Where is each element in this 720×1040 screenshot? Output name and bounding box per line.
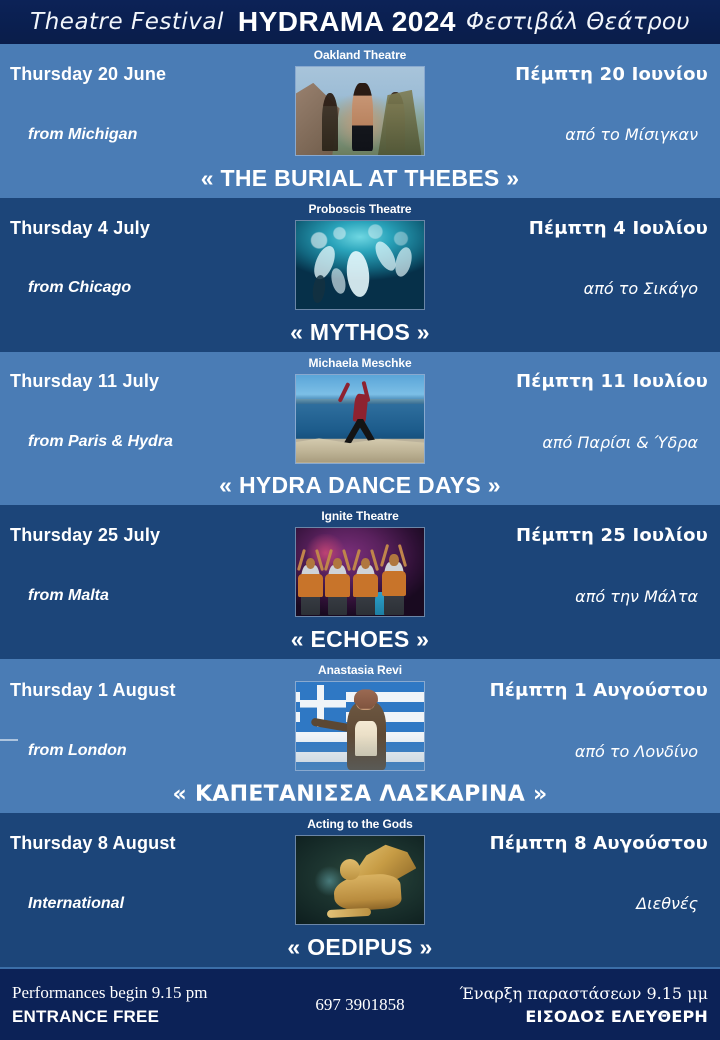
event-thumbnail-wrap xyxy=(285,198,435,319)
event-row[interactable]: Thursday 25 July Πέμπτη 25 Ιουλίου Ignit… xyxy=(0,505,720,659)
poster-header: Theatre Festival HYDRAMA 2024 Φεστιβάλ Θ… xyxy=(0,0,720,44)
footer-greek-block: Έναρξη παραστάσεων 9.15 μμ ΕΙΣΟΔΟΣ ΕΛΕΥΘ… xyxy=(415,984,708,1026)
header-greek-title: Φεστιβάλ Θεάτρου xyxy=(466,9,690,35)
footer-start-time-english: Performances begin 9.15 pm xyxy=(12,983,305,1003)
event-company-name: Oakland Theatre xyxy=(285,44,435,62)
event-title: « THE BURIAL AT THEBES » xyxy=(0,165,720,198)
poster-footer: Performances begin 9.15 pm ENTRANCE FREE… xyxy=(0,967,720,1040)
event-company-name: Michaela Meschke xyxy=(285,352,435,370)
event-row[interactable]: Thursday 1 August Πέμπτη 1 Αυγούστου Ana… xyxy=(0,659,720,813)
event-thumbnail-wrap xyxy=(285,352,435,473)
oedipus-sphinx-photo xyxy=(295,835,425,925)
event-origin-greek: από το Σικάγο xyxy=(435,258,720,318)
event-origin-greek: από Παρίσι & Ύδρα xyxy=(435,412,720,472)
event-company-name: Proboscis Theatre xyxy=(285,198,435,216)
echoes-stage-photo xyxy=(295,527,425,617)
event-date-english: Thursday 25 July xyxy=(0,505,285,565)
event-origin-english: from Paris & Hydra xyxy=(0,412,285,472)
event-row[interactable]: Thursday 20 June Πέμπτη 20 Ιουνίου Oakla… xyxy=(0,44,720,198)
event-row[interactable]: Thursday 8 August Πέμπτη 8 Αυγούστου Act… xyxy=(0,813,720,967)
event-row[interactable]: Thursday 11 July Πέμπτη 11 Ιουλίου Micha… xyxy=(0,352,720,506)
event-origin-english: International xyxy=(0,874,285,934)
event-title: « MYTHOS » xyxy=(0,319,720,352)
event-title: « ECHOES » xyxy=(0,626,720,659)
event-date-english: Thursday 20 June xyxy=(0,44,285,104)
festival-poster: Theatre Festival HYDRAMA 2024 Φεστιβάλ Θ… xyxy=(0,0,720,1040)
event-origin-greek: από το Λονδίνο xyxy=(435,721,720,782)
event-date-greek: Πέμπτη 1 Αυγούστου xyxy=(435,659,720,720)
event-date-english: Thursday 4 July xyxy=(0,198,285,258)
event-company-name: Ignite Theatre xyxy=(285,505,435,523)
hydra-dance-days-photo xyxy=(295,374,425,464)
footer-english-block: Performances begin 9.15 pm ENTRANCE FREE xyxy=(12,983,305,1027)
event-list: Thursday 20 June Πέμπτη 20 Ιουνίου Oakla… xyxy=(0,44,720,967)
event-title: « HYDRA DANCE DAYS » xyxy=(0,472,720,505)
event-date-english: Thursday 1 August xyxy=(0,659,285,720)
event-date-greek: Πέμπτη 8 Αυγούστου xyxy=(435,813,720,873)
header-english-title: Theatre Festival xyxy=(30,9,238,35)
event-date-greek: Πέμπτη 4 Ιουλίου xyxy=(435,198,720,258)
event-row[interactable]: Thursday 4 July Πέμπτη 4 Ιουλίου Probosc… xyxy=(0,198,720,352)
kapetanissa-laskarina-photo xyxy=(295,681,425,771)
footer-entrance-english: ENTRANCE FREE xyxy=(12,1007,305,1027)
event-origin-english: from Chicago xyxy=(0,258,285,318)
footer-start-time-greek: Έναρξη παραστάσεων 9.15 μμ xyxy=(415,984,708,1003)
event-thumbnail-wrap xyxy=(285,659,435,782)
event-title: « ΚΑΠΕΤΑΝΙΣΣΑ ΛΑΣΚΑΡΙΝΑ » xyxy=(0,782,720,813)
event-thumbnail-wrap xyxy=(285,813,435,934)
event-date-english: Thursday 8 August xyxy=(0,813,285,873)
mythos-underwater-photo xyxy=(295,220,425,310)
event-date-greek: Πέμπτη 20 Ιουνίου xyxy=(435,44,720,104)
event-thumbnail-wrap xyxy=(285,505,435,626)
event-origin-english: from London xyxy=(0,721,285,782)
event-origin-english: from Malta xyxy=(0,566,285,626)
footer-phone-number[interactable]: 697 3901858 xyxy=(305,995,414,1015)
event-date-english: Thursday 11 July xyxy=(0,352,285,412)
event-company-name: Anastasia Revi xyxy=(285,659,435,677)
event-origin-greek: από την Μάλτα xyxy=(435,566,720,626)
event-company-name: Acting to the Gods xyxy=(285,813,435,831)
event-origin-english: from Michigan xyxy=(0,104,285,164)
event-title: « OEDIPUS » xyxy=(0,934,720,967)
footer-entrance-greek: ΕΙΣΟΔΟΣ ΕΛΕΥΘΕΡΗ xyxy=(415,1007,708,1026)
event-thumbnail-wrap xyxy=(285,44,435,165)
header-main-title: HYDRAMA 2024 xyxy=(238,6,466,38)
event-origin-greek: Διεθνές xyxy=(435,874,720,934)
event-date-greek: Πέμπτη 25 Ιουλίου xyxy=(435,505,720,565)
event-date-greek: Πέμπτη 11 Ιουλίου xyxy=(435,352,720,412)
event-origin-greek: από το Μίσιγκαν xyxy=(435,104,720,164)
burial-at-thebes-photo xyxy=(295,66,425,156)
